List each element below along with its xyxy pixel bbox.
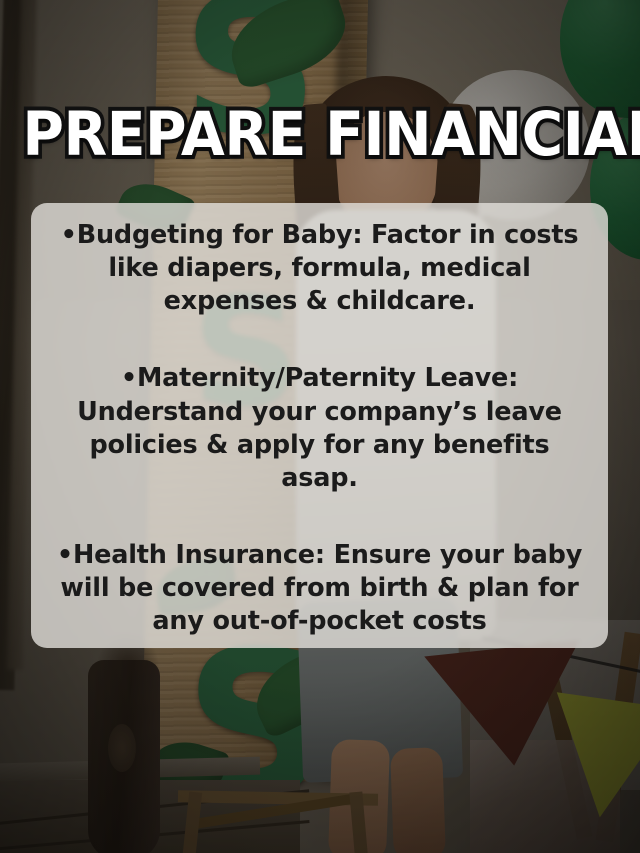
list-item: •Health Insurance: Ensure your baby will… [47,539,592,638]
text-card: •Budgeting for Baby: Factor in costs lik… [31,203,608,648]
list-item: •Maternity/Paternity Leave: Understand y… [47,362,592,495]
infographic-canvas: S S S [0,0,640,853]
bullet-list: •Budgeting for Baby: Factor in costs lik… [47,219,592,638]
page-title: PREPARE FINANCIALLY [22,104,617,165]
list-item: •Budgeting for Baby: Factor in costs lik… [47,219,592,318]
